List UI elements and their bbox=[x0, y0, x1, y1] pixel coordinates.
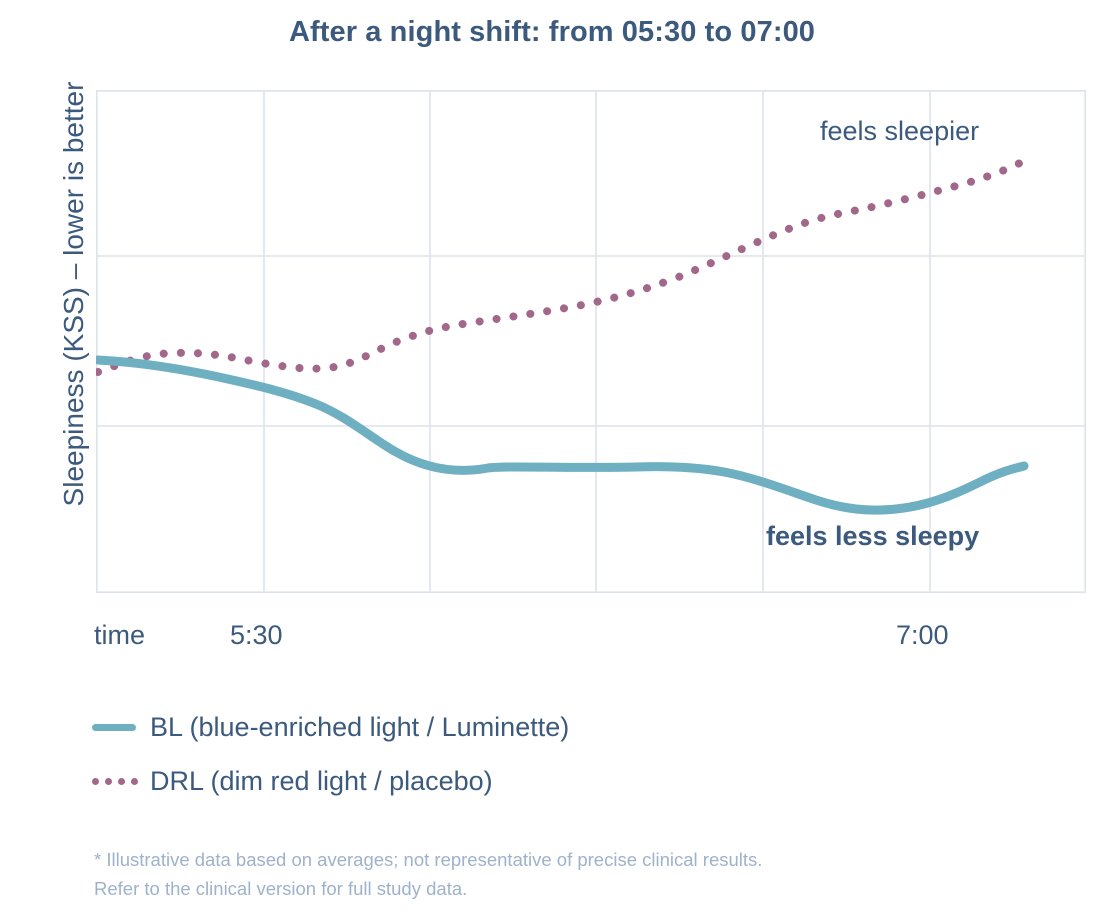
x-axis-name: time bbox=[94, 620, 145, 651]
chart-gridlines bbox=[96, 90, 1086, 593]
legend-item-bl[interactable]: BL (blue-enriched light / Luminette) bbox=[92, 700, 992, 754]
chart-svg bbox=[96, 90, 1086, 593]
x-axis-tick-0700: 7:00 bbox=[896, 620, 949, 651]
chart-legend: BL (blue-enriched light / Luminette) DRL… bbox=[92, 700, 992, 808]
chart-plot-area: feels sleepier feels less sleepy bbox=[96, 90, 1086, 593]
footnote-line-2: Refer to the clinical version for full s… bbox=[94, 874, 1094, 903]
legend-label-bl: BL (blue-enriched light / Luminette) bbox=[150, 712, 569, 743]
legend-label-drl: DRL (dim red light / placebo) bbox=[150, 766, 493, 797]
y-axis-label: Sleepiness (KSS) – lower is better bbox=[58, 14, 90, 574]
annotation-feels-less-sleepy: feels less sleepy bbox=[766, 521, 979, 552]
page-title: After a night shift: from 05:30 to 07:00 bbox=[0, 16, 1104, 49]
series-line-bl bbox=[98, 360, 1024, 510]
legend-dotted-line-icon bbox=[92, 778, 150, 785]
x-axis-tick-0530: 5:30 bbox=[230, 620, 283, 651]
legend-solid-line-icon bbox=[92, 724, 150, 731]
footnote-line-1: * Illustrative data based on averages; n… bbox=[94, 845, 1094, 874]
footnote: * Illustrative data based on averages; n… bbox=[94, 845, 1094, 903]
series-line-drl bbox=[98, 162, 1022, 372]
legend-item-drl[interactable]: DRL (dim red light / placebo) bbox=[92, 754, 992, 808]
annotation-feels-sleepier: feels sleepier bbox=[820, 116, 979, 147]
